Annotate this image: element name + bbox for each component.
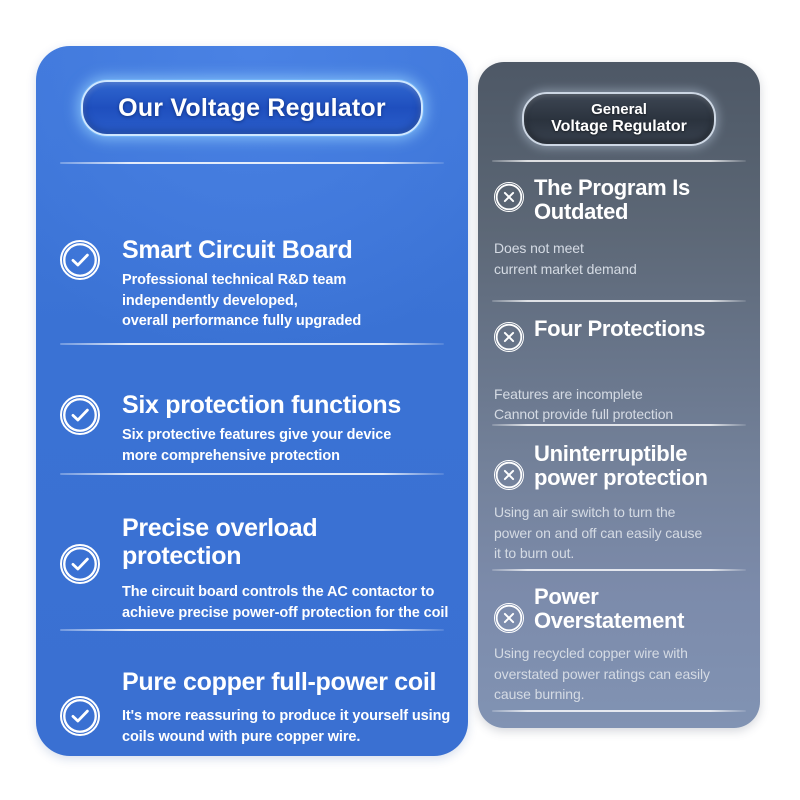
divider-ours-4: [60, 629, 444, 631]
drawback-headrow: Uninterruptible power protection: [494, 442, 746, 490]
x-circle-icon: [494, 442, 534, 490]
comparison-infographic: Our Voltage Regulator Smart Circuit Boar…: [0, 0, 800, 800]
check-circle-icon: [60, 514, 122, 584]
check-circle-icon: [60, 236, 122, 280]
drawback-item: The Program Is Outdated Does not meet cu…: [494, 176, 746, 279]
feature-description: It's more reassuring to produce it yours…: [122, 706, 452, 747]
feature-title: Precise overload protection: [122, 514, 452, 570]
x-circle-icon: [494, 176, 534, 212]
drawback-item: Uninterruptible power protection Using a…: [494, 442, 746, 563]
divider-ours-2: [60, 343, 444, 345]
drawback-description: Using recycled copper wire with overstat…: [494, 643, 746, 704]
feature-description: The circuit board controls the AC contac…: [122, 582, 452, 623]
check-circle-icon: [60, 668, 122, 736]
feature-description: Professional technical R&D team independ…: [122, 270, 452, 332]
our-product-header: Our Voltage Regulator: [36, 46, 468, 164]
feature-title: Smart Circuit Board: [122, 236, 452, 264]
drawback-description: Features are incomplete Cannot provide f…: [494, 384, 746, 425]
drawback-title: Power Overstatement: [534, 585, 746, 633]
feature-item: Smart Circuit Board Professional technic…: [60, 236, 452, 332]
divider-general-2: [492, 300, 746, 302]
drawback-title: Uninterruptible power protection: [534, 442, 746, 490]
drawback-description: Using an air switch to turn the power on…: [494, 502, 746, 563]
drawback-title: Four Protections: [534, 317, 746, 341]
drawback-headrow: Power Overstatement: [494, 585, 746, 633]
drawback-title: The Program Is Outdated: [534, 176, 746, 224]
divider-ours-3: [60, 473, 444, 475]
x-circle-icon: [494, 317, 534, 352]
feature-item: Six protection functions Six protective …: [60, 391, 452, 466]
feature-body: Smart Circuit Board Professional technic…: [122, 236, 452, 332]
drawback-headrow: The Program Is Outdated: [494, 176, 746, 224]
our-product-panel: Our Voltage Regulator Smart Circuit Boar…: [36, 46, 468, 756]
feature-description: Six protective features give your device…: [122, 425, 452, 466]
feature-body: Six protection functions Six protective …: [122, 391, 452, 466]
general-product-title-line1: General: [591, 102, 647, 118]
check-circle-icon: [60, 391, 122, 435]
drawback-headrow: Four Protections: [494, 317, 746, 352]
general-product-header: General Voltage Regulator: [478, 62, 760, 158]
general-product-title-pill: General Voltage Regulator: [522, 92, 716, 146]
our-product-title-pill: Our Voltage Regulator: [81, 80, 423, 136]
drawback-description: Does not meet current market demand: [494, 238, 746, 279]
feature-body: Precise overload protection The circuit …: [122, 514, 452, 623]
our-product-title-label: Our Voltage Regulator: [118, 94, 386, 123]
general-product-panel: General Voltage Regulator The Program Is…: [478, 62, 760, 728]
feature-title: Six protection functions: [122, 391, 452, 419]
drawback-item: Power Overstatement Using recycled coppe…: [494, 585, 746, 704]
feature-body: Pure copper full-power coil It's more re…: [122, 668, 452, 747]
divider-general-3: [492, 424, 746, 426]
general-product-title-line2: Voltage Regulator: [551, 118, 687, 135]
divider-general-5: [492, 710, 746, 712]
feature-item: Pure copper full-power coil It's more re…: [60, 668, 452, 747]
divider-general-4: [492, 569, 746, 571]
divider-ours-1: [60, 162, 444, 164]
feature-title: Pure copper full-power coil: [122, 668, 452, 696]
divider-general-1: [492, 160, 746, 162]
drawback-item: Four Protections Features are incomplete…: [494, 317, 746, 425]
feature-item: Precise overload protection The circuit …: [60, 514, 452, 623]
x-circle-icon: [494, 585, 534, 633]
